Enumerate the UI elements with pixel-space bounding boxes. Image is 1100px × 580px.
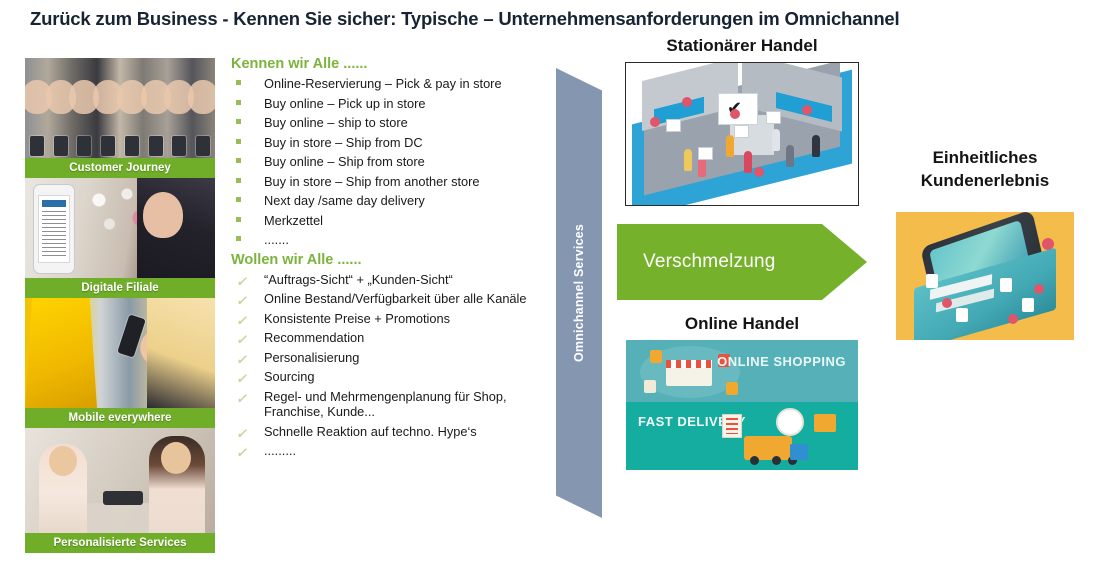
photo-caption-mobile-everywhere: Mobile everywhere [25, 408, 215, 428]
check-icon: ✓ [236, 334, 247, 345]
unified-experience-title-line2: Kundenerlebnis [880, 169, 1090, 192]
shopper-figure [684, 149, 692, 171]
photo-card-personalisierte-services[interactable]: Personalisierte Services [25, 428, 215, 553]
list-item-label: Sourcing [264, 369, 315, 384]
photo-card-digitale-filiale[interactable]: Digitale Filiale [25, 178, 215, 298]
photo-caption-personalisierte-services: Personalisierte Services [25, 533, 215, 553]
counter [83, 503, 155, 533]
price-tag-icon [666, 119, 681, 132]
marker-dot-icon [730, 109, 740, 119]
known-list: Online-Reservierung – Pick & pay in stor… [228, 76, 538, 248]
bullet-square-icon [236, 236, 241, 241]
slide-canvas: Zurück zum Business - Kennen Sie sicher:… [0, 0, 1100, 580]
beige-sleeve [147, 298, 215, 408]
kiosk-block [926, 274, 938, 288]
check-icon: ✓ [236, 295, 247, 306]
check-icon: ✓ [236, 276, 247, 287]
marker-dot-icon [1008, 314, 1018, 324]
list-item-label: Buy in store – Ship from another store [264, 174, 480, 189]
shopper-figure [772, 129, 780, 151]
check-icon: ✓ [236, 447, 247, 458]
right-outcome-column: Einheitliches Kundenerlebnis [880, 146, 1090, 340]
list-item-label: Merkzettel [264, 213, 323, 228]
shopper-figure [744, 151, 752, 173]
shop-front-icon [666, 360, 712, 386]
shopping-bag-icon [650, 350, 662, 363]
bullet-square-icon [236, 119, 241, 124]
smartphone-isometric-commerce-illustration [896, 212, 1074, 340]
list-item-label: “Auftrags-Sicht“ + „Kunden-Sicht“ [264, 272, 453, 287]
check-icon: ✓ [236, 354, 247, 365]
list-item-label: Recommendation [264, 330, 364, 345]
list-item-label: Personalisierung [264, 350, 359, 365]
check-icon: ✓ [236, 428, 247, 439]
price-tag-icon [734, 125, 749, 138]
known-list-heading: Kennen wir Alle ...... [231, 56, 538, 72]
list-item: Buy online – ship to store [228, 115, 538, 131]
two-women-at-service-counter-photo [25, 428, 215, 533]
list-item-label: Next day /same day delivery [264, 193, 425, 208]
list-item: ✓Regel- und Mehrmengenplanung für Shop, … [228, 389, 538, 420]
photo-caption-customer-journey: Customer Journey [25, 158, 215, 178]
shopper-figure [726, 135, 734, 157]
list-item: ✓Online Bestand/Verfügbarkeit über alle … [228, 291, 538, 307]
clock-icon [776, 408, 804, 436]
list-item: Buy online – Ship from store [228, 154, 538, 170]
wanted-list: ✓“Auftrags-Sicht“ + „Kunden-Sicht“ ✓Onli… [228, 272, 538, 459]
list-item: Online-Reservierung – Pick & pay in stor… [228, 76, 538, 92]
bullet-square-icon [236, 217, 241, 222]
list-item-label: Online Bestand/Verfügbarkeit über alle K… [264, 291, 527, 306]
marker-dot-icon [942, 298, 952, 308]
check-icon: ✓ [236, 315, 247, 326]
check-icon: ✓ [236, 373, 247, 384]
bullet-square-icon [236, 197, 241, 202]
bullet-square-icon [236, 158, 241, 163]
list-item-label: Schnelle Reaktion auf techno. Hype‘s [264, 424, 477, 439]
price-tag-icon [766, 111, 781, 124]
list-item-label: Buy online – Pick up in store [264, 96, 425, 111]
unified-experience-title-line1: Einheitliches [880, 146, 1090, 169]
list-item: ✓......... [228, 443, 538, 459]
shopper-figure [786, 145, 794, 167]
woman-left [39, 444, 87, 533]
omnichannel-services-label: Omnichannel Services [572, 224, 586, 362]
people-with-smartphones-photo [25, 58, 215, 158]
list-item: Next day /same day delivery [228, 193, 538, 209]
verschmelzung-label: Verschmelzung [643, 251, 776, 273]
page-title: Zurück zum Business - Kennen Sie sicher:… [30, 8, 1070, 30]
shopping-bag-icon [644, 380, 656, 393]
list-item-label: Buy in store – Ship from DC [264, 135, 423, 150]
bullet-square-icon [236, 178, 241, 183]
store-isometric-scene [626, 63, 858, 205]
woman-right [149, 436, 205, 533]
marker-dot-icon [802, 105, 812, 115]
marker-dot-icon [754, 167, 764, 177]
center-column: Stationärer Handel [617, 36, 867, 470]
left-photo-column: Customer Journey Digitale Filiale Mobile… [25, 58, 215, 563]
list-item-label: Konsistente Preise + Promotions [264, 311, 450, 326]
list-item: ✓Personalisierung [228, 350, 538, 366]
photo-card-customer-journey[interactable]: Customer Journey [25, 58, 215, 178]
list-item: Buy in store – Ship from DC [228, 135, 538, 151]
list-item: ....... [228, 232, 538, 248]
isometric-retail-store-illustration [625, 62, 859, 206]
online-retail-title: Online Handel [617, 314, 867, 334]
woman-silhouette [137, 178, 215, 278]
marker-dot-icon [650, 117, 660, 127]
smartphone-mockup-icon [33, 184, 75, 274]
shopping-bag-icon [726, 382, 738, 395]
kiosk-block [956, 308, 968, 322]
list-item: ✓Konsistente Preise + Promotions [228, 311, 538, 327]
shopper-figure [812, 135, 820, 157]
price-tag-icon [698, 147, 713, 160]
omnichannel-services-banner: Omnichannel Services [556, 68, 602, 518]
phone-app-and-woman-in-store-photo [25, 178, 215, 278]
list-item-label: Buy online – Ship from store [264, 154, 425, 169]
list-item-label: ......... [264, 443, 296, 458]
delivery-truck-icon [744, 436, 792, 460]
list-item-label: ....... [264, 232, 289, 247]
stationary-retail-title: Stationärer Handel [617, 36, 867, 56]
kiosk-block [1000, 278, 1012, 292]
marker-dot-icon [682, 97, 692, 107]
bullet-square-icon [236, 139, 241, 144]
middle-requirements-column: Kennen wir Alle ...... Online-Reservieru… [228, 56, 538, 463]
photo-caption-digitale-filiale: Digitale Filiale [25, 278, 215, 298]
list-item: ✓Schnelle Reaktion auf techno. Hype‘s [228, 424, 538, 440]
online-shopping-and-delivery-illustration: ONLINE SHOPPING FAST DELIVERY [626, 340, 858, 470]
list-item: ✓Recommendation [228, 330, 538, 346]
fast-delivery-panel [626, 402, 858, 470]
list-item: ✓Sourcing [228, 369, 538, 385]
package-icon [814, 414, 836, 432]
list-item-label: Regel- und Mehrmengenplanung für Shop, F… [264, 389, 507, 420]
marker-dot-icon [1034, 284, 1044, 294]
yellow-jacket-mobile-payment-photo [25, 298, 215, 408]
document-icon [722, 414, 742, 438]
list-item: Buy online – Pick up in store [228, 96, 538, 112]
list-item: Buy in store – Ship from another store [228, 174, 538, 190]
yellow-jacket [25, 298, 97, 408]
photo-card-mobile-everywhere[interactable]: Mobile everywhere [25, 298, 215, 428]
check-icon: ✓ [236, 393, 247, 404]
bullet-square-icon [236, 100, 241, 105]
list-item: ✓“Auftrags-Sicht“ + „Kunden-Sicht“ [228, 272, 538, 288]
list-item: Merkzettel [228, 213, 538, 229]
bullet-square-icon [236, 80, 241, 85]
wanted-list-heading: Wollen wir Alle ...... [231, 252, 538, 268]
list-item-label: Online-Reservierung – Pick & pay in stor… [264, 76, 502, 91]
list-item-label: Buy online – ship to store [264, 115, 408, 130]
kiosk-block [1022, 298, 1034, 312]
online-shopping-label: ONLINE SHOPPING [717, 354, 846, 369]
verschmelzung-arrow: Verschmelzung [617, 224, 867, 300]
counter-equipment [103, 491, 143, 505]
faces-row [25, 58, 215, 158]
